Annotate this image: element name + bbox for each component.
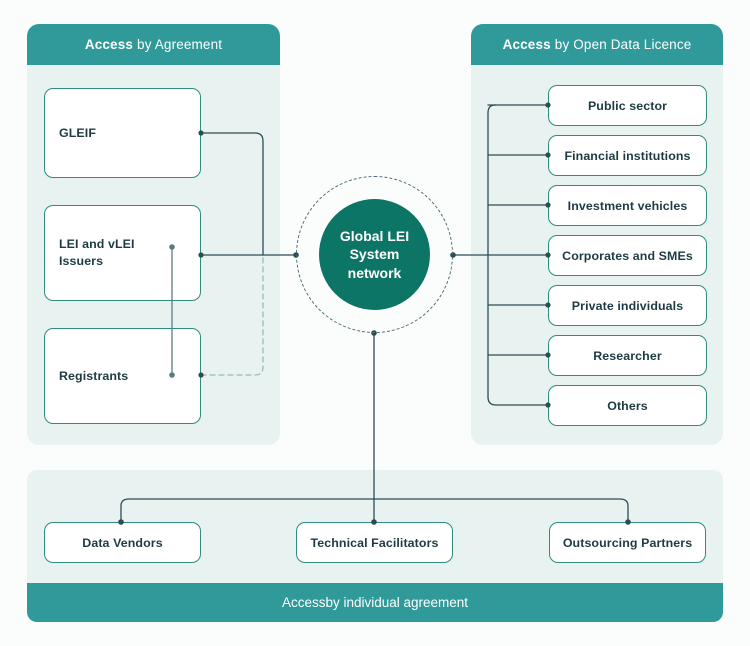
node-outsourcing-partners-label: Outsourcing Partners <box>563 536 692 550</box>
node-public-sector-label: Public sector <box>588 99 667 113</box>
node-data-vendors[interactable]: Data Vendors <box>44 522 201 563</box>
node-lei-and-vlei-issuers[interactable]: LEI and vLEI Issuers <box>44 205 201 301</box>
node-corporates-and-smes-label: Corporates and SMEs <box>562 249 693 263</box>
node-financial-institutions[interactable]: Financial institutions <box>548 135 707 176</box>
diagram-root: Accessby Agreement GLEIF LEI and vLEI Is… <box>0 0 750 646</box>
node-others[interactable]: Others <box>548 385 707 426</box>
hub-label: Global LEI System network <box>340 227 409 282</box>
node-private-individuals[interactable]: Private individuals <box>548 285 707 326</box>
left-panel-header-rest: by Agreement <box>137 37 222 52</box>
node-corporates-and-smes[interactable]: Corporates and SMEs <box>548 235 707 276</box>
right-panel-header: Accessby Open Data Licence <box>471 24 723 65</box>
node-others-label: Others <box>607 399 648 413</box>
right-panel-header-bold: Access <box>503 37 551 52</box>
node-lei-and-vlei-issuers-label: LEI and vLEI Issuers <box>59 236 135 269</box>
node-investment-vehicles[interactable]: Investment vehicles <box>548 185 707 226</box>
node-public-sector[interactable]: Public sector <box>548 85 707 126</box>
node-gleif-label: GLEIF <box>59 125 96 142</box>
node-technical-facilitators-label: Technical Facilitators <box>311 536 439 550</box>
node-financial-institutions-label: Financial institutions <box>564 149 690 163</box>
node-technical-facilitators[interactable]: Technical Facilitators <box>296 522 453 563</box>
node-data-vendors-label: Data Vendors <box>82 536 162 550</box>
bottom-panel-footer: Accessby individual agreement <box>27 583 723 622</box>
node-researcher[interactable]: Researcher <box>548 335 707 376</box>
node-registrants[interactable]: Registrants <box>44 328 201 424</box>
left-panel-header-bold: Access <box>85 37 133 52</box>
node-private-individuals-label: Private individuals <box>572 299 683 313</box>
bottom-panel-footer-bold: Access <box>282 595 326 610</box>
node-researcher-label: Researcher <box>593 349 662 363</box>
node-outsourcing-partners[interactable]: Outsourcing Partners <box>549 522 706 563</box>
center-hub: Global LEI System network <box>296 176 453 333</box>
hub-circle[interactable]: Global LEI System network <box>319 199 430 310</box>
left-panel-header: Accessby Agreement <box>27 24 280 65</box>
bottom-panel-footer-rest: by individual agreement <box>325 595 468 610</box>
right-panel-header-rest: by Open Data Licence <box>555 37 692 52</box>
node-investment-vehicles-label: Investment vehicles <box>568 199 688 213</box>
node-gleif[interactable]: GLEIF <box>44 88 201 178</box>
node-registrants-label: Registrants <box>59 368 128 385</box>
